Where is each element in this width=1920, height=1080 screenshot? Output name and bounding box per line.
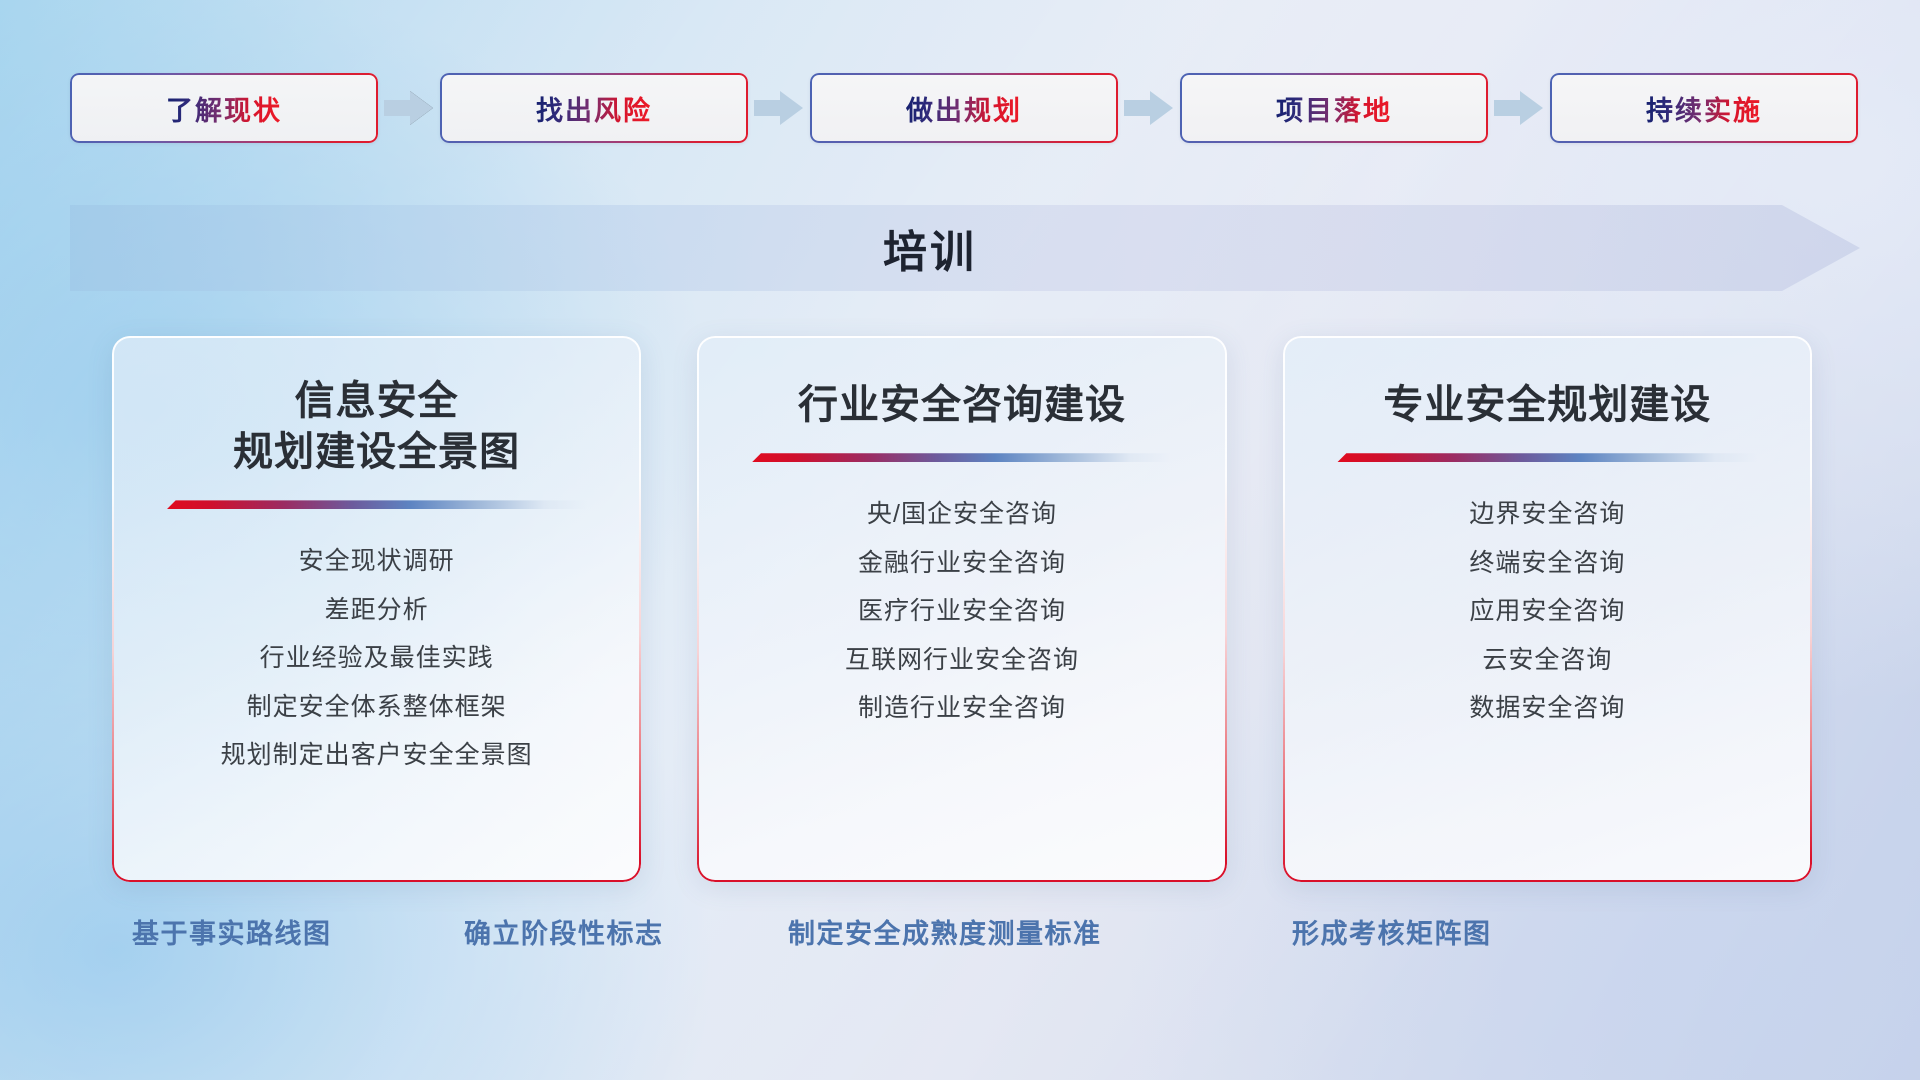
arrow-right-icon (748, 86, 810, 130)
list-item: 终端安全咨询 (1469, 545, 1625, 583)
card-item-list: 边界安全咨询 终端安全咨询 应用安全咨询 云安全咨询 数据安全咨询 (1309, 496, 1786, 728)
card-accent-bar (167, 500, 587, 509)
card-information-security-panorama[interactable]: 信息安全 规划建设全景图 安全现状调研 差距分析 行业经验及最佳实践 制定安全体… (112, 336, 641, 882)
card-professional-security-planning[interactable]: 专业安全规划建设 边界安全咨询 终端安全咨询 应用安全咨询 云安全咨询 数据安全… (1283, 336, 1812, 882)
arrow-right-icon (1488, 86, 1550, 130)
step-label-4: 项目落地 (1276, 89, 1392, 128)
list-item: 应用安全咨询 (1469, 593, 1625, 631)
arrow-right-icon (1118, 86, 1180, 130)
card-industry-security-consulting[interactable]: 行业安全咨询建设 央/国企安全咨询 金融行业安全咨询 医疗行业安全咨询 互联网行… (697, 336, 1226, 882)
step-box-1[interactable]: 了解现状 (70, 73, 378, 143)
card-row: 信息安全 规划建设全景图 安全现状调研 差距分析 行业经验及最佳实践 制定安全体… (112, 336, 1812, 882)
list-item: 边界安全咨询 (1469, 496, 1625, 534)
footer-label-row: 基于事实路线图 确立阶段性标志 制定安全成熟度测量标准 形成考核矩阵图 (0, 912, 1920, 958)
process-step-row: 了解现状 找出风险 做出规划 项目落地 (70, 72, 1860, 144)
list-item: 规划制定出客户安全全景图 (221, 737, 533, 775)
card-title: 信息安全 规划建设全景图 (233, 376, 520, 478)
list-item: 制造行业安全咨询 (858, 690, 1066, 728)
step-box-2[interactable]: 找出风险 (440, 73, 748, 143)
footer-label-1: 基于事实路线图 (132, 912, 332, 951)
card-item-list: 央/国企安全咨询 金融行业安全咨询 医疗行业安全咨询 互联网行业安全咨询 制造行… (723, 496, 1200, 728)
list-item: 央/国企安全咨询 (867, 496, 1057, 534)
list-item: 医疗行业安全咨询 (858, 593, 1066, 631)
footer-label-4: 形成考核矩阵图 (1292, 912, 1492, 951)
card-accent-bar (752, 453, 1172, 462)
list-item: 差距分析 (325, 592, 429, 630)
list-item: 互联网行业安全咨询 (845, 642, 1079, 680)
arrow-right-icon (378, 86, 440, 130)
slide-canvas: 了解现状 找出风险 做出规划 项目落地 (0, 0, 1920, 1080)
footer-label-2: 确立阶段性标志 (464, 912, 664, 951)
step-label-1: 了解现状 (166, 89, 282, 128)
list-item: 金融行业安全咨询 (858, 545, 1066, 583)
card-accent-bar (1337, 453, 1757, 462)
banner-title: 培训 (70, 205, 1860, 291)
step-label-3: 做出规划 (906, 89, 1022, 128)
list-item: 数据安全咨询 (1469, 690, 1625, 728)
card-item-list: 安全现状调研 差距分析 行业经验及最佳实践 制定安全体系整体框架 规划制定出客户… (138, 543, 615, 775)
card-title: 行业安全咨询建设 (798, 380, 1126, 431)
step-label-5: 持续实施 (1646, 89, 1762, 128)
training-banner: 培训 (70, 205, 1860, 291)
footer-label-3: 制定安全成熟度测量标准 (788, 912, 1102, 951)
list-item: 行业经验及最佳实践 (260, 640, 494, 678)
step-box-5[interactable]: 持续实施 (1550, 73, 1858, 143)
list-item: 安全现状调研 (299, 543, 455, 581)
step-box-4[interactable]: 项目落地 (1180, 73, 1488, 143)
step-label-2: 找出风险 (536, 89, 652, 128)
list-item: 制定安全体系整体框架 (247, 689, 507, 727)
card-title: 专业安全规划建设 (1383, 380, 1711, 431)
step-box-3[interactable]: 做出规划 (810, 73, 1118, 143)
list-item: 云安全咨询 (1482, 642, 1612, 680)
